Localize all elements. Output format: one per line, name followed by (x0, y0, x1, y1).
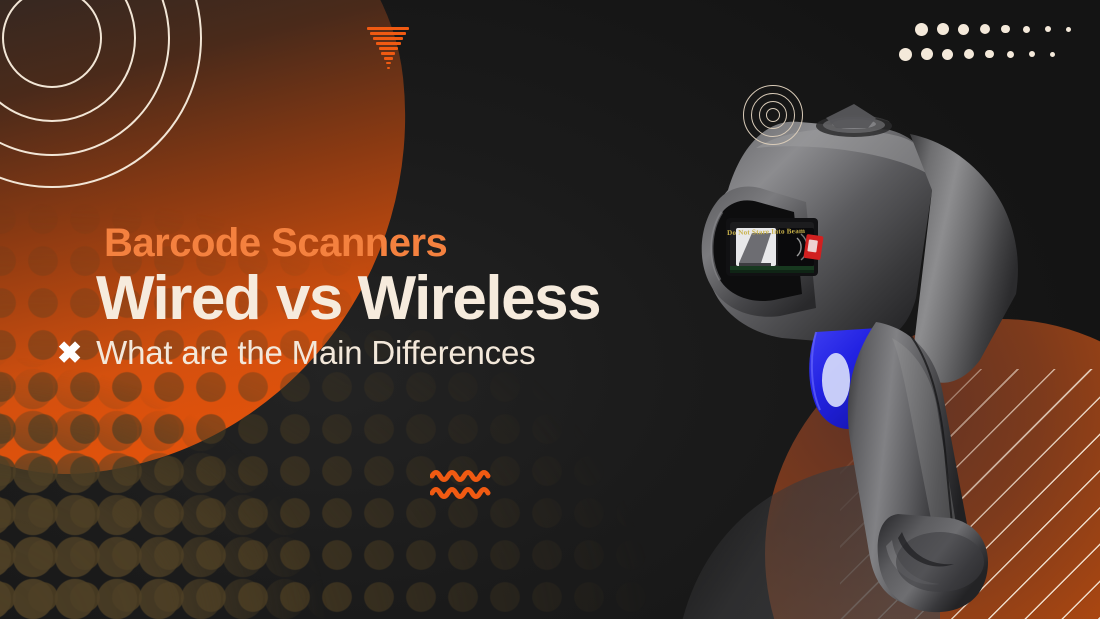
wave-lines-icon (430, 467, 494, 506)
concentric-rings-icon (0, 0, 182, 158)
dot (985, 50, 994, 59)
dot-row-2 (895, 47, 1079, 61)
page-title: Wired vs Wireless (96, 267, 744, 330)
funnel-bar-4 (376, 42, 401, 45)
dot (980, 24, 990, 34)
funnel-bar-8 (386, 62, 391, 65)
dot (1007, 51, 1014, 58)
scanner-ring-4 (743, 85, 803, 145)
funnel-bar-7 (384, 57, 393, 60)
dot (899, 48, 912, 61)
funnel-triangle-icon (366, 27, 410, 69)
cross-mark-icon: ✖ (57, 339, 82, 369)
funnel-bar-1 (367, 27, 409, 30)
dot (1050, 52, 1055, 57)
dot (942, 49, 953, 60)
dot (921, 48, 933, 60)
dot (1001, 25, 1010, 34)
dot (964, 49, 974, 59)
eyebrow-text: Barcode Scanners (104, 222, 744, 265)
dot (937, 23, 949, 35)
funnel-bar-5 (379, 47, 398, 50)
dot (1066, 27, 1071, 32)
dot (958, 24, 969, 35)
funnel-bar-3 (373, 37, 403, 40)
dot-grid-decoration (895, 22, 1079, 61)
subtitle-row: ✖ What are the Main Differences (57, 334, 744, 372)
funnel-bar-9 (387, 67, 390, 70)
funnel-bar-6 (381, 52, 395, 55)
dot-row-1 (911, 22, 1079, 36)
concentric-rings-small-icon (740, 82, 806, 148)
dot (1045, 26, 1051, 32)
dot (1029, 51, 1035, 57)
subtitle-text: What are the Main Differences (96, 334, 535, 372)
banner: Do Not Stare Into Beam Barcode Scanners … (0, 0, 1100, 619)
headline-block: Barcode Scanners Wired vs Wireless ✖ Wha… (104, 222, 744, 372)
dot (1023, 26, 1030, 33)
dot (915, 23, 928, 36)
funnel-bar-2 (370, 32, 406, 35)
